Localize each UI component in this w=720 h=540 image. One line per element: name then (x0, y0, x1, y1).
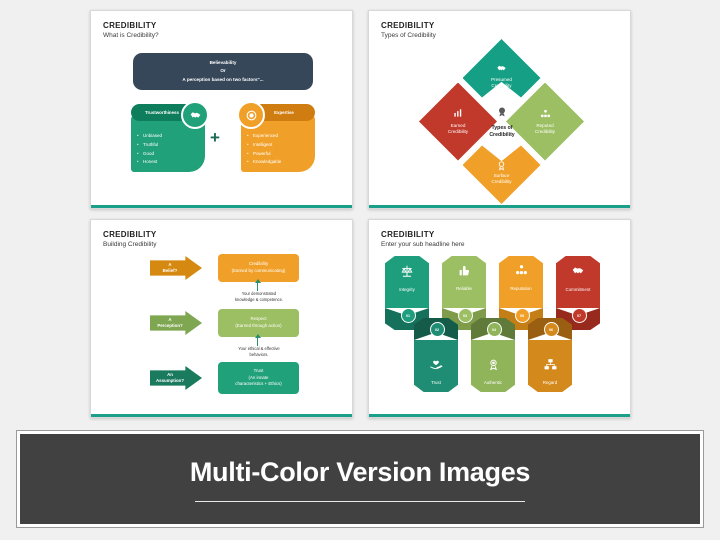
slide1-title: CREDIBILITY (103, 21, 157, 30)
banner-title: Multi-Color Version Images (190, 457, 530, 488)
hex-integrity-label: Integrity (399, 287, 415, 292)
hex-regard-label: Regard (543, 380, 557, 385)
hex-authentic-label: Authentic (484, 380, 502, 385)
slide2-accent-bar (369, 205, 630, 208)
people-group-icon (515, 264, 528, 282)
list-item: Unbiased (143, 132, 205, 141)
connector-arrow-1 (257, 282, 258, 291)
list-item: Knowledgable (253, 158, 315, 167)
hex-authentic[interactable]: Authentic 04 (471, 318, 515, 392)
slide4-subtitle: Enter your sub headline here (381, 241, 464, 248)
hex-trust-body: Trust (414, 340, 458, 392)
hex-reputation-label: Reputation (510, 286, 531, 291)
handshake-icon (571, 264, 585, 283)
believability-line2: Or (220, 67, 225, 75)
believability-banner: Believability Or A perception based on t… (133, 53, 313, 90)
list-item: Powerful (253, 150, 315, 159)
list-item: Good (143, 150, 205, 159)
slide3-subtitle: Building Credibility (103, 241, 156, 248)
handshake-icon (181, 101, 209, 129)
hex-authentic-number: 04 (487, 322, 502, 337)
hex-reliable-body: Reliable (442, 256, 486, 308)
hex-reputation-body: Reputation (499, 256, 543, 308)
list-item: Honest (143, 158, 205, 167)
slide3-title: CREDIBILITY (103, 230, 157, 239)
slide3-accent-bar (91, 414, 352, 417)
hex-commitment-label: Commitment (566, 287, 591, 292)
stage-box-credibility[interactable]: Credibility(Earned by communicating) (218, 254, 299, 282)
believability-line3: A perception based on two factors"... (182, 76, 263, 84)
list-item: Intelligent (253, 141, 315, 150)
arrow-a-belief[interactable]: ABelief? (150, 256, 202, 280)
award-medal-icon (487, 358, 500, 376)
connector-text-1: Your demonstratedknowledge & competence. (211, 291, 307, 303)
hex-integrity-body: Integrity (385, 256, 429, 308)
hex-commitment-number: 07 (572, 308, 587, 323)
bottom-banner: Multi-Color Version Images (16, 430, 704, 528)
arrow-a-perception[interactable]: APerception? (150, 311, 202, 335)
hex-commitment-body: Commitment (556, 256, 600, 308)
slide2-title: CREDIBILITY (381, 21, 435, 30)
slide-building-credibility[interactable]: CREDIBILITY Building Credibility ABelief… (90, 219, 353, 418)
credibility-diamond: PresumedCredibility ReputedCredibility (419, 39, 584, 204)
list-item: Experienced (253, 132, 315, 141)
slides-grid: CREDIBILITY What is Credibility? Believa… (0, 0, 720, 420)
hex-regard[interactable]: Regard 06 (528, 318, 572, 392)
hex-regard-number: 06 (544, 322, 559, 337)
panel-trustworthiness[interactable]: Unbiased Truthful Good Honest Trustworth… (131, 104, 205, 172)
slide4-title: CREDIBILITY (381, 230, 435, 239)
connector-text-2: Your ethical & effectivebehaviors. (211, 346, 307, 358)
diamond-center: Types ofCredibility (472, 94, 532, 150)
slide-types-of-credibility[interactable]: CREDIBILITY Types of Credibility Presume… (368, 10, 631, 209)
bottom-banner-inner: Multi-Color Version Images (20, 434, 700, 524)
target-gear-icon (237, 101, 265, 129)
slide-credibility-hexagons[interactable]: CREDIBILITY Enter your sub headline here… (368, 219, 631, 418)
slide1-accent-bar (91, 205, 352, 208)
connector-arrow-2 (257, 337, 258, 346)
plus-sign: + (210, 129, 220, 146)
badge-seal-icon (496, 105, 508, 123)
stage-box-respect[interactable]: Respect(Earned through action) (218, 309, 299, 337)
hex-trust-label: Trust (431, 380, 441, 385)
panel-expertise[interactable]: Experienced Intelligent Powerful Knowled… (241, 104, 315, 172)
believability-line1: Believability (210, 59, 237, 67)
heart-hand-icon (429, 357, 443, 376)
slide1-subtitle: What is Credibility? (103, 32, 159, 39)
stage-box-trust[interactable]: Trust(An innatecharacteristics + Ethics) (218, 362, 299, 394)
diamond-center-label: Types ofCredibility (489, 125, 514, 140)
hex-regard-body: Regard (528, 340, 572, 392)
thumbs-up-icon (458, 264, 471, 282)
scales-balance-icon (400, 264, 414, 283)
hex-authentic-body: Authentic (471, 340, 515, 392)
petal-bottom-label: SurfaceCredibility (463, 173, 541, 185)
hex-reliable-label: Reliable (456, 286, 472, 291)
slide4-accent-bar (369, 414, 630, 417)
banner-divider (195, 501, 525, 502)
list-item: Truthful (143, 141, 205, 150)
hex-trust-number: 02 (430, 322, 445, 337)
org-chart-icon (544, 358, 557, 376)
slide-what-is-credibility[interactable]: CREDIBILITY What is Credibility? Believa… (90, 10, 353, 209)
hex-trust[interactable]: Trust 02 (414, 318, 458, 392)
arrow-an-assumption[interactable]: AnAssumption? (150, 366, 202, 390)
slide2-subtitle: Types of Credibility (381, 32, 436, 39)
